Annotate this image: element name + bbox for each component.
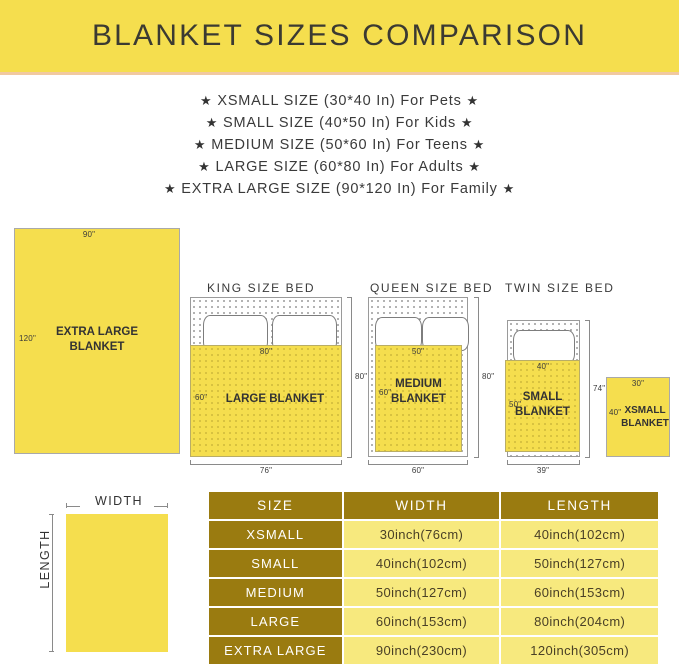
- table-row: SMALL 40inch(102cm) 50inch(127cm): [209, 550, 658, 577]
- length-tick-bottom: [49, 651, 54, 652]
- xsmall-width-dimension: 30": [632, 379, 644, 388]
- cell-size: XSMALL: [209, 521, 342, 548]
- twin-height-tick-bottom: [585, 457, 590, 458]
- cell-length: 50inch(127cm): [501, 550, 658, 577]
- queen-height-rule: [478, 297, 479, 457]
- king-bed-height-dimension: 80": [355, 372, 367, 381]
- length-rule: [52, 514, 53, 652]
- cell-size: MEDIUM: [209, 579, 342, 606]
- extra-large-blanket-label: EXTRA LARGE BLANKET: [14, 325, 180, 355]
- king-height-tick-bottom: [347, 457, 352, 458]
- queen-height-tick-top: [474, 297, 479, 298]
- twin-height-rule: [589, 320, 590, 457]
- width-rule-left: [66, 506, 80, 507]
- cell-length: 80inch(204cm): [501, 608, 658, 635]
- cell-size: SMALL: [209, 550, 342, 577]
- small-blanket-width-dimension: 40": [537, 362, 549, 371]
- twin-bed-height-dimension: 74": [593, 384, 605, 393]
- cell-length: 120inch(305cm): [501, 637, 658, 664]
- table-header-row: SIZE WIDTH LENGTH: [209, 492, 658, 519]
- medium-blanket-label: MEDIUM BLANKET: [375, 377, 462, 407]
- king-height-tick-top: [347, 297, 352, 298]
- queen-width-rule: [368, 464, 468, 465]
- table-header: SIZE WIDTH LENGTH: [209, 492, 658, 519]
- king-bed-title: KING SIZE BED: [207, 281, 315, 295]
- table-row: EXTRA LARGE 90inch(230cm) 120inch(305cm): [209, 637, 658, 664]
- twin-bed-title: TWIN SIZE BED: [505, 281, 614, 295]
- king-bed-width-dimension: 76": [260, 466, 272, 475]
- twin-pillow: [513, 330, 575, 364]
- small-blanket-label: SMALL BLANKET: [505, 390, 580, 420]
- table-body: XSMALL 30inch(76cm) 40inch(102cm) SMALL …: [209, 521, 658, 664]
- width-tick-left: [66, 503, 67, 508]
- width-label: WIDTH: [84, 494, 154, 508]
- cell-width: 50inch(127cm): [344, 579, 500, 606]
- king-height-rule: [351, 297, 352, 457]
- size-table: SIZE WIDTH LENGTH XSMALL 30inch(76cm) 40…: [207, 490, 660, 666]
- twin-width-tick-left: [507, 460, 508, 465]
- column-header-size: SIZE: [209, 492, 342, 519]
- medium-blanket-width-dimension: 50": [412, 347, 424, 356]
- column-header-length: LENGTH: [501, 492, 658, 519]
- column-header-width: WIDTH: [344, 492, 500, 519]
- cell-length: 60inch(153cm): [501, 579, 658, 606]
- queen-width-tick-right: [467, 460, 468, 465]
- cell-size: LARGE: [209, 608, 342, 635]
- extra-large-width-dimension: 90": [83, 230, 95, 239]
- queen-bed-width-dimension: 60": [412, 466, 424, 475]
- cell-size: EXTRA LARGE: [209, 637, 342, 664]
- twin-height-tick-top: [585, 320, 590, 321]
- cell-width: 60inch(153cm): [344, 608, 500, 635]
- large-blanket-width-dimension: 80": [260, 347, 272, 356]
- width-length-figure: WIDTH LENGTH: [18, 492, 204, 664]
- xsmall-blanket-label: XSMALL BLANKET: [606, 404, 670, 430]
- width-tick-right: [167, 503, 168, 508]
- queen-bed-title: QUEEN SIZE BED: [370, 281, 493, 295]
- twin-width-tick-right: [579, 460, 580, 465]
- table-row: MEDIUM 50inch(127cm) 60inch(153cm): [209, 579, 658, 606]
- table-row: LARGE 60inch(153cm) 80inch(204cm): [209, 608, 658, 635]
- king-width-tick-right: [341, 460, 342, 465]
- cell-width: 90inch(230cm): [344, 637, 500, 664]
- queen-bed-height-dimension: 80": [482, 372, 494, 381]
- twin-width-rule: [507, 464, 580, 465]
- king-width-rule: [190, 464, 342, 465]
- large-blanket-label: LARGE BLANKET: [190, 392, 342, 407]
- twin-bed-width-dimension: 39": [537, 466, 549, 475]
- cell-width: 40inch(102cm): [344, 550, 500, 577]
- width-rule-right: [154, 506, 168, 507]
- king-width-tick-left: [190, 460, 191, 465]
- length-tick-top: [49, 514, 54, 515]
- cell-width: 30inch(76cm): [344, 521, 500, 548]
- width-length-rectangle: [66, 514, 168, 652]
- table-row: XSMALL 30inch(76cm) 40inch(102cm): [209, 521, 658, 548]
- queen-height-tick-bottom: [474, 457, 479, 458]
- cell-length: 40inch(102cm): [501, 521, 658, 548]
- queen-width-tick-left: [368, 460, 369, 465]
- length-label: LENGTH: [38, 524, 52, 594]
